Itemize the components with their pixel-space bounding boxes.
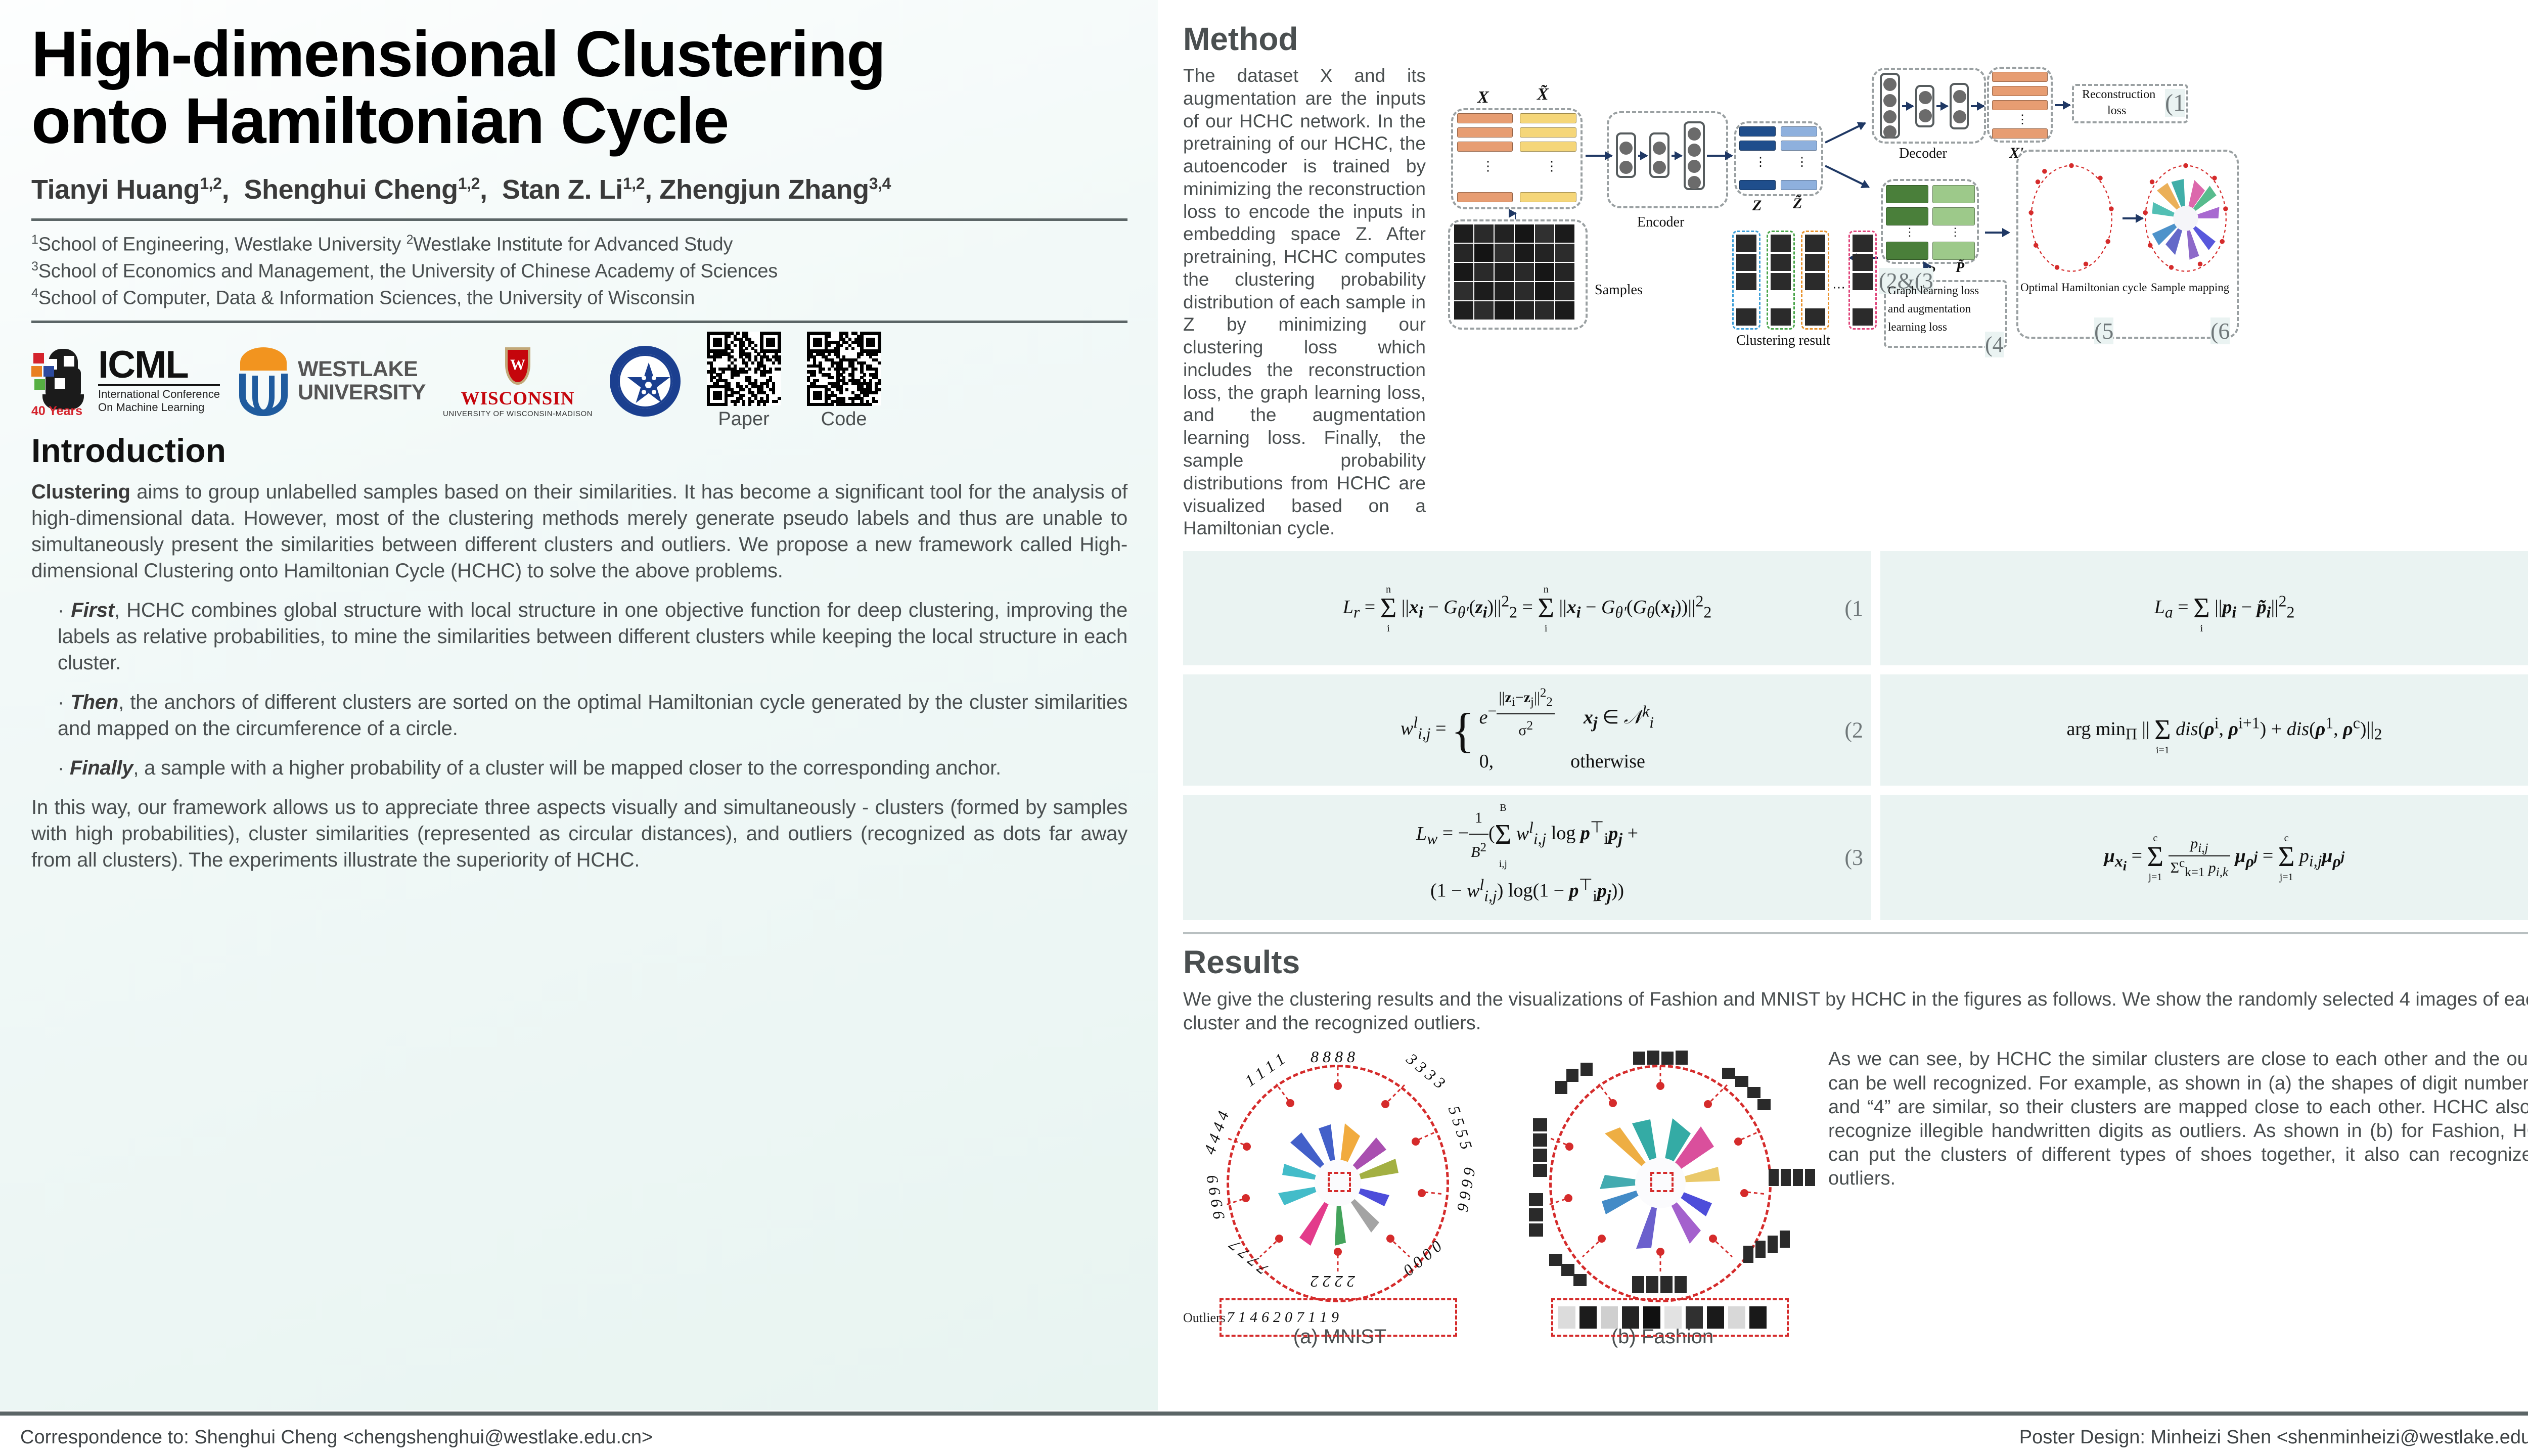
equation-1: Lr = Σni ||xi − Gθ′(zi)||22 = Σni ||xi −… [1183,551,1871,665]
introduction-lead-paragraph: Clustering aims to group unlabelled samp… [31,479,1127,584]
introduction-lead-bold: Clustering [31,481,130,503]
bullet-marker-1: · [58,599,64,621]
qr-paper-caption: Paper [718,408,769,430]
figure-mnist-anchor-label-2: 2 2 2 2 [1311,1272,1355,1291]
figure-mnist: 8 8 8 8 1 1 1 1 3 3 3 3 5 5 5 5 6 6 6 6 … [1183,1048,1497,1348]
bullet-text-2: , the anchors of different clusters are … [58,691,1127,740]
cas-logo [610,343,681,419]
diagram-tag-1: (1 [2165,89,2185,117]
westlake-name-2: UNIVERSITY [298,381,426,404]
footer-divider [0,1412,2528,1416]
introduction-bullet-then: · Then, the anchors of different cluster… [58,689,1127,742]
qr-code-image[interactable] [807,332,881,405]
bullet-lead-2: Then [70,691,118,713]
qr-paper-image[interactable] [707,332,781,405]
figure-fashion-outliers-box [1551,1298,1789,1337]
diagram-label-sample-mapping: Sample mapping [2151,281,2229,294]
diagram-samples-grid [1454,224,1574,320]
diagram-label-samples: Samples [1595,282,1643,298]
icml-years-label: 40 Years [31,404,82,419]
diagram-label-clustering-result: Clustering result [1736,333,1830,349]
poster-root: High-dimensional Clustering onto Hamilto… [0,0,2528,1456]
diagram-label-graph-loss-2: and augmentation [1888,302,1971,315]
qr-code[interactable]: Code [807,332,881,430]
equation-3-number: (3 [1844,845,1863,871]
wisconsin-subtitle: UNIVERSITY OF WISCONSIN-MADISON [443,409,593,418]
bullet-text-1: , HCHC combines global structure with lo… [58,599,1127,674]
architecture-diagram: X X̃ ⋮ ⋮ [1431,65,2528,464]
wisconsin-name: WISCONSIN [461,388,575,409]
diagram-label-recon-loss-2: loss [2107,104,2126,118]
figure-fashion: (b) Fashion [1506,1048,1819,1348]
affiliations: 1School of Engineering, Westlake Univers… [31,231,1127,311]
equation-3: Lw = −1B2(ΣBi,j wli,j log p⊤ipj + (1 − w… [1183,795,1871,920]
bullet-text-3: , a sample with a higher probability of … [133,757,1001,779]
method-paragraph: The dataset X and its augmentation are t… [1183,65,1426,540]
diagram-tag-6: (6 [2210,317,2230,344]
wisconsin-logo: W WISCONSIN UNIVERSITY OF WISCONSIN-MADI… [443,343,593,419]
diagram-label-decoder: Decoder [1899,146,1947,162]
diagram-label-optimal-cycle: Optimal Hamiltonian cycle [2020,281,2147,294]
icml-subtitle-2: On Machine Learning [98,401,220,414]
equation-grid: Lr = Σni ||xi − Gθ′(zi)||22 = Σni ||xi −… [1183,551,2528,920]
divider-results [1183,932,2528,934]
diagram-tag-4: (4 [1985,332,2004,357]
left-panel: High-dimensional Clustering onto Hamilto… [0,0,1158,1410]
figure-mnist-anchor-label-8: 8 8 8 8 [1311,1048,1355,1066]
bullet-marker-3: · [58,757,64,779]
diagram-label-X: X [1477,88,1489,107]
qr-paper[interactable]: Paper [707,332,781,430]
equation-2-number: (2 [1844,717,1863,743]
icml-wordmark: ICML [98,348,220,382]
diagram-optimal-cycle-icon [2023,160,2119,277]
footer-correspondence: Correspondence to: Shenghui Cheng <cheng… [20,1427,653,1448]
diagram-label-graph-loss-3: learning loss [1888,321,1947,334]
icml-mark-icon: 40 Years [31,346,91,417]
footer-poster-design: Poster Design: Minheizi Shen <shenminhei… [2019,1427,2528,1448]
method-heading: Method [1183,20,2528,58]
icml-logo: 40 Years ICML International Conference O… [31,343,220,419]
cas-seal-icon [610,346,681,417]
bullet-marker-2: · [58,691,64,713]
right-panel: Method The dataset X and its augmentatio… [1158,0,2528,1410]
footer: Correspondence to: Shenghui Cheng <cheng… [0,1419,2528,1456]
results-analysis-paragraph: As we can see, by HCHC the similar clust… [1828,1048,2528,1348]
wisconsin-w-letter: W [502,356,533,374]
diagram-label-graph-loss-1: Graph learning loss [1888,284,1979,297]
title-line-1: High-dimensional Clustering [31,21,1127,88]
westlake-logo: WESTLAKE UNIVERSITY [237,343,426,419]
affiliation-1: 1School of Engineering, Westlake Univers… [31,231,1127,258]
equation-5: arg minΠ || Σi=1 dis(ρi, ρi+1) + dis(ρ1,… [1880,674,2528,786]
equation-1-number: (1 [1844,596,1863,621]
figure-mnist-outliers-box: 7 1 4 6 2 0 7 1 1 9 [1220,1298,1457,1337]
introduction-closing-paragraph: In this way, our framework allows us to … [31,794,1127,873]
diagram-tag-5: (5 [2094,317,2113,344]
introduction-lead-rest: aims to group unlabelled samples based o… [31,481,1127,582]
author-list: Tianyi Huang1,2, Shenghui Cheng1,2, Stan… [31,174,1127,205]
results-figures-row: 8 8 8 8 1 1 1 1 3 3 3 3 5 5 5 5 6 6 6 6 … [1183,1048,2528,1348]
diagram-label-Z: Z [1752,197,1762,214]
diagram-label-X-tilde: X̃ [1537,85,1549,104]
diagram-label-P-tilde: P̃ [1956,260,1964,276]
icml-subtitle-1: International Conference [98,388,220,401]
divider-top [31,218,1127,221]
diagram-label-Z-tilde: Z̃ [1793,195,1802,212]
westlake-name-1: WESTLAKE [298,358,426,381]
logo-strip: 40 Years ICML International Conference O… [31,336,1127,426]
divider-affiliations [31,321,1127,323]
diagram-label-recon-loss-1: Reconstruction [2082,88,2155,102]
title-line-2: onto Hamiltonian Cycle [31,88,1127,155]
introduction-heading: Introduction [31,431,1127,470]
westlake-mark-icon [237,346,290,416]
results-heading: Results [1183,943,2528,981]
affiliation-2: 3School of Economics and Management, the… [31,258,1127,285]
page-title: High-dimensional Clustering onto Hamilto… [31,21,1127,155]
results-intro-paragraph: We give the clustering results and the v… [1183,988,2528,1035]
wisconsin-crest-icon: W [502,343,533,388]
introduction-bullet-first: · First, HCHC combines global structure … [58,597,1127,676]
bullet-lead-3: Finally [70,757,133,779]
affiliation-3: 4School of Computer, Data & Information … [31,285,1127,311]
qr-code-caption: Code [821,408,867,430]
diagram-label-encoder: Encoder [1637,214,1684,231]
diagram-sample-mapping-icon [2138,160,2234,277]
equation-4: La = Σi ||pi − p̃i||22 (4 [1880,551,2528,665]
introduction-bullet-finally: · Finally, a sample with a higher probab… [58,755,1127,781]
equation-2: wli,j = { e−||zi−zj||22σ2 xj ∈ 𝒩ki 0, ot… [1183,674,1871,786]
equation-6: μxi = Σcj=1 pi,jΣck=1 pi,k μρj = Σcj=1 p… [1880,795,2528,920]
bullet-lead-1: First [71,599,114,621]
